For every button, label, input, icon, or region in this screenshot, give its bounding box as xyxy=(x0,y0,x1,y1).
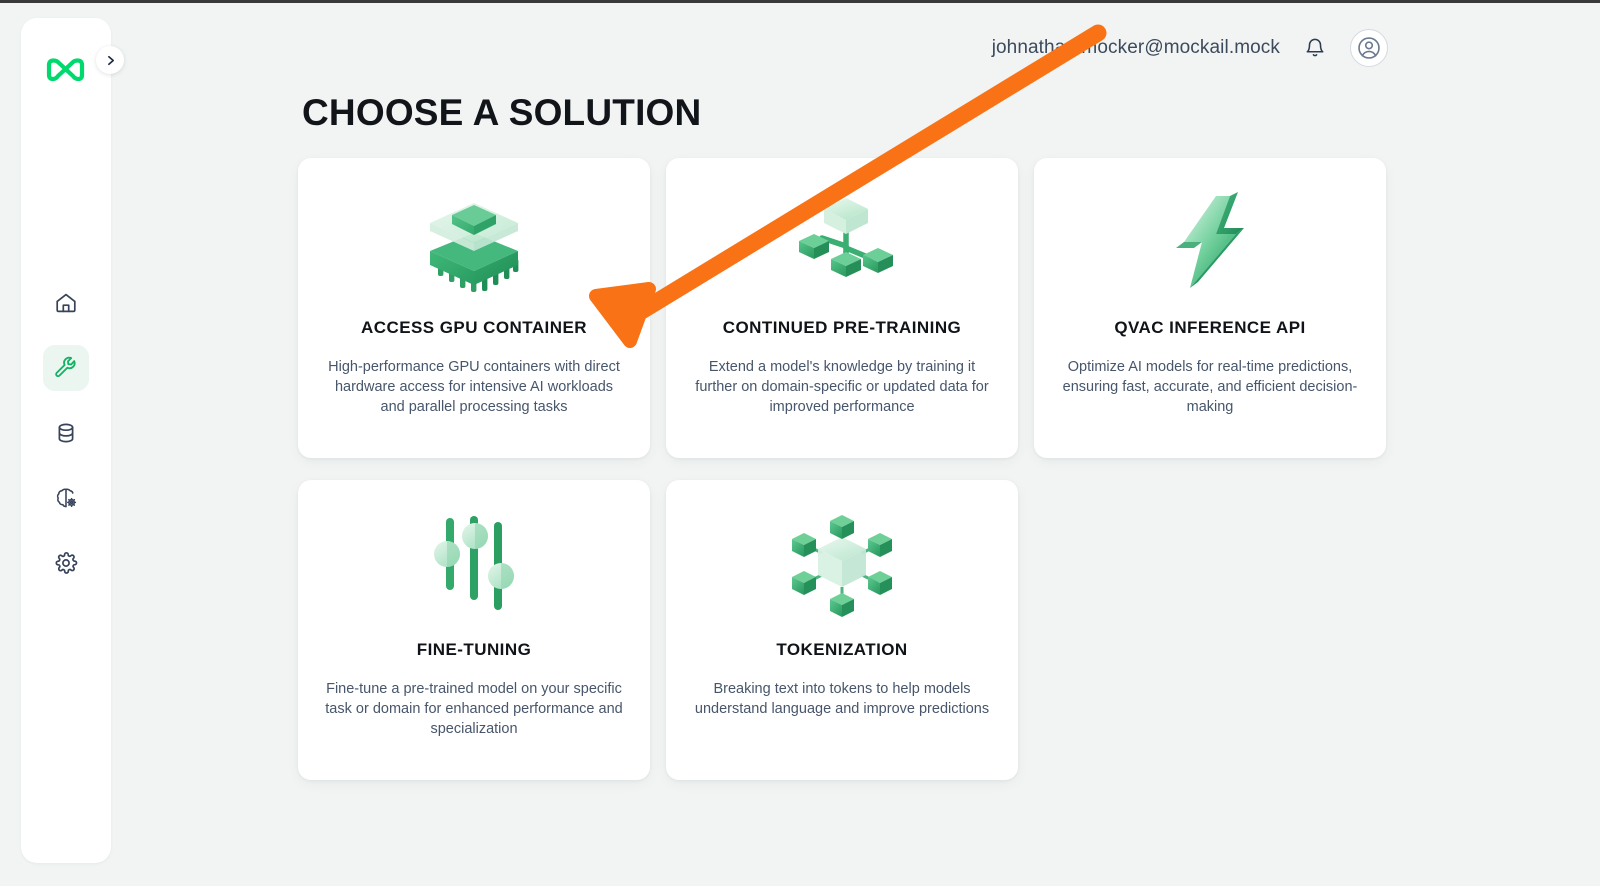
page-title: CHOOSE A SOLUTION xyxy=(302,92,701,134)
sidebar-item-data[interactable] xyxy=(43,410,89,456)
card-icon-wrap xyxy=(790,176,894,308)
wrench-icon xyxy=(54,356,78,380)
solution-card-tokenization[interactable]: TOKENIZATION Breaking text into tokens t… xyxy=(666,480,1018,780)
solutions-grid: ACCESS GPU CONTAINER High-performance GP… xyxy=(298,158,1418,780)
gpu-chip-icon xyxy=(422,193,526,295)
token-cube-network-icon xyxy=(790,513,894,619)
card-description: Extend a model's knowledge by training i… xyxy=(692,357,992,417)
sidebar-item-settings[interactable] xyxy=(43,540,89,586)
card-title: CONTINUED PRE-TRAINING xyxy=(723,318,961,338)
chevron-right-icon xyxy=(104,54,117,67)
card-description: Optimize AI models for real-time predict… xyxy=(1060,357,1360,417)
sidebar-item-models[interactable] xyxy=(43,475,89,521)
lightning-bolt-icon xyxy=(1164,190,1256,294)
infinity-logo-icon xyxy=(46,58,86,82)
card-icon-wrap xyxy=(422,180,526,308)
sidebar xyxy=(21,18,111,863)
sidebar-item-solutions[interactable] xyxy=(43,345,89,391)
brain-gear-icon xyxy=(54,486,78,510)
solution-card-fine-tuning[interactable]: FINE-TUNING Fine-tune a pre-trained mode… xyxy=(298,480,650,780)
settings-gear-icon xyxy=(54,551,78,575)
database-icon xyxy=(54,421,78,445)
sidebar-nav xyxy=(21,280,111,586)
solution-card-continued-pre-training[interactable]: CONTINUED PRE-TRAINING Extend a model's … xyxy=(666,158,1018,458)
card-title: TOKENIZATION xyxy=(776,640,907,660)
solution-card-qvac-inference-api[interactable]: QVAC INFERENCE API Optimize AI models fo… xyxy=(1034,158,1386,458)
sidebar-item-home[interactable] xyxy=(43,280,89,326)
main-content: CHOOSE A SOLUTION xyxy=(110,0,1600,886)
hierarchy-tree-icon xyxy=(790,190,894,294)
app-root: johnathan.mocker@mockail.mock CHOOSE A S… xyxy=(0,0,1600,886)
card-title: ACCESS GPU CONTAINER xyxy=(361,318,587,338)
sliders-icon xyxy=(431,514,517,618)
card-description: Breaking text into tokens to help models… xyxy=(692,679,992,719)
card-icon-wrap xyxy=(790,502,894,630)
card-title: FINE-TUNING xyxy=(417,640,532,660)
card-title: QVAC INFERENCE API xyxy=(1114,318,1305,338)
card-description: High-performance GPU containers with dir… xyxy=(324,357,624,417)
sidebar-collapse-toggle[interactable] xyxy=(96,46,124,74)
card-icon-wrap xyxy=(431,502,517,630)
home-icon xyxy=(54,291,78,315)
solution-card-access-gpu-container[interactable]: ACCESS GPU CONTAINER High-performance GP… xyxy=(298,158,650,458)
card-description: Fine-tune a pre-trained model on your sp… xyxy=(324,679,624,739)
card-icon-wrap xyxy=(1164,176,1256,308)
